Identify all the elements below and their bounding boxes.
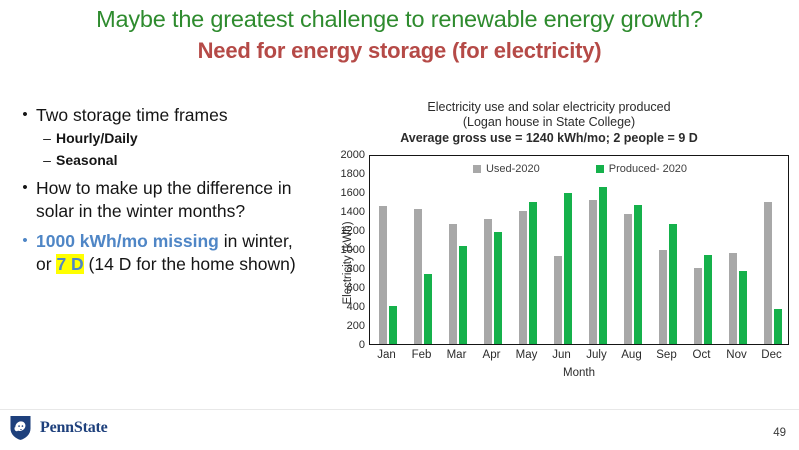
plot-frame: Used-2020Produced- 2020 <box>369 155 789 345</box>
bar-produced <box>669 224 677 344</box>
bullet-tail-text: (14 D for the home shown) <box>84 254 296 274</box>
x-axis-tick-label: Oct <box>684 349 719 361</box>
x-axis-tick-label: July <box>579 349 614 361</box>
bar-group <box>580 154 615 344</box>
bar-used <box>379 206 387 344</box>
bar-produced <box>599 187 607 344</box>
bar-produced <box>459 246 467 344</box>
x-axis-tick-label: Feb <box>404 349 439 361</box>
chart-subtitle: (Logan house in State College) <box>303 115 795 130</box>
bullet-marker-icon: • <box>14 230 36 251</box>
chart-title: Electricity use and solar electricity pr… <box>303 100 795 115</box>
bar-series-container <box>370 154 790 344</box>
bullet-text: Two storage time frames <box>36 104 306 127</box>
bar-group <box>440 154 475 344</box>
bar-group <box>650 154 685 344</box>
x-axis-ticks: JanFebMarAprMayJunJulyAugSepOctNovDec <box>369 349 789 361</box>
bar-used <box>519 211 527 344</box>
y-axis-tick-label: 600 <box>347 282 365 294</box>
footer-divider <box>0 409 799 410</box>
bar-produced <box>704 255 712 344</box>
bar-used <box>554 256 562 344</box>
bar-used <box>694 268 702 344</box>
dash-marker-icon: – <box>38 129 56 147</box>
bullet-item-2: – Hourly/Daily <box>38 129 306 147</box>
x-axis-tick-label: Dec <box>754 349 789 361</box>
bar-used <box>414 209 422 344</box>
bar-group <box>475 154 510 344</box>
slide-canvas: Maybe the greatest challenge to renewabl… <box>0 0 799 450</box>
plot-area-wrapper: Electricity (kWh) 2000180016001400120010… <box>303 151 795 402</box>
penn-state-wordmark: PennState <box>40 419 108 437</box>
bar-used <box>589 200 597 344</box>
bar-produced <box>494 232 502 344</box>
bar-used <box>484 219 492 344</box>
x-axis-tick-label: Mar <box>439 349 474 361</box>
x-axis-tick-label: Apr <box>474 349 509 361</box>
bar-used <box>659 250 667 344</box>
bar-used <box>624 214 632 344</box>
bar-produced <box>564 193 572 344</box>
chart-title-block: Electricity use and solar electricity pr… <box>303 100 795 146</box>
page-subtitle: Need for energy storage (for electricity… <box>0 36 799 66</box>
bullet-text: How to make up the difference in solar i… <box>36 177 306 223</box>
y-axis-tick-label: 1200 <box>341 225 365 237</box>
bar-produced <box>634 205 642 344</box>
y-axis-tick-label: 400 <box>347 301 365 313</box>
x-axis-tick-label: Jan <box>369 349 404 361</box>
x-axis-tick-label: Sep <box>649 349 684 361</box>
y-axis-tick-label: 0 <box>359 339 365 351</box>
bullet-item-1: • Two storage time frames <box>14 104 306 127</box>
electricity-bar-chart: Electricity use and solar electricity pr… <box>303 100 795 402</box>
penn-state-lion-shield-icon <box>8 414 33 442</box>
x-axis-tick-label: Jun <box>544 349 579 361</box>
slide-title-block: Maybe the greatest challenge to renewabl… <box>0 4 799 66</box>
bar-produced <box>424 274 432 344</box>
bar-produced <box>739 271 747 344</box>
y-axis-ticks: 2000180016001400120010008006004002000 <box>325 151 365 347</box>
bar-group <box>685 154 720 344</box>
bar-group <box>755 154 790 344</box>
dash-marker-icon: – <box>38 151 56 169</box>
page-title: Maybe the greatest challenge to renewabl… <box>0 4 799 34</box>
highlighted-value: 7 D <box>56 254 83 274</box>
emphasis-text: 1000 kWh/mo missing <box>36 231 219 251</box>
y-axis-tick-label: 1000 <box>341 244 365 256</box>
bar-group <box>405 154 440 344</box>
y-axis-tick-label: 2000 <box>341 149 365 161</box>
bar-group <box>370 154 405 344</box>
y-axis-tick-label: 1600 <box>341 187 365 199</box>
bullet-list: • Two storage time frames – Hourly/Daily… <box>14 104 306 278</box>
bullet-text: Hourly/Daily <box>56 129 306 147</box>
page-number: 49 <box>773 427 786 439</box>
bar-group <box>720 154 755 344</box>
bar-group <box>510 154 545 344</box>
penn-state-logo: PennState <box>8 414 108 442</box>
bar-produced <box>529 202 537 344</box>
y-axis-tick-label: 200 <box>347 320 365 332</box>
x-axis-tick-label: Nov <box>719 349 754 361</box>
bar-produced <box>774 309 782 344</box>
x-axis-tick-label: May <box>509 349 544 361</box>
bar-used <box>764 202 772 345</box>
x-axis-label: Month <box>369 367 789 379</box>
bullet-text: Seasonal <box>56 151 306 169</box>
bullet-item-4: • How to make up the difference in solar… <box>14 177 306 223</box>
bullet-text: 1000 kWh/mo missing in winter, or 7 D (1… <box>36 230 306 276</box>
y-axis-tick-label: 1400 <box>341 206 365 218</box>
chart-note: Average gross use = 1240 kWh/mo; 2 peopl… <box>303 130 795 146</box>
bullet-marker-icon: • <box>14 177 36 198</box>
bar-used <box>449 224 457 344</box>
bar-group <box>615 154 650 344</box>
bullet-marker-icon: • <box>14 104 36 125</box>
bullet-item-5: • 1000 kWh/mo missing in winter, or 7 D … <box>14 230 306 276</box>
bullet-item-3: – Seasonal <box>38 151 306 169</box>
y-axis-tick-label: 800 <box>347 263 365 275</box>
bar-used <box>729 253 737 344</box>
y-axis-tick-label: 1800 <box>341 168 365 180</box>
bar-produced <box>389 306 397 344</box>
x-axis-tick-label: Aug <box>614 349 649 361</box>
bar-group <box>545 154 580 344</box>
